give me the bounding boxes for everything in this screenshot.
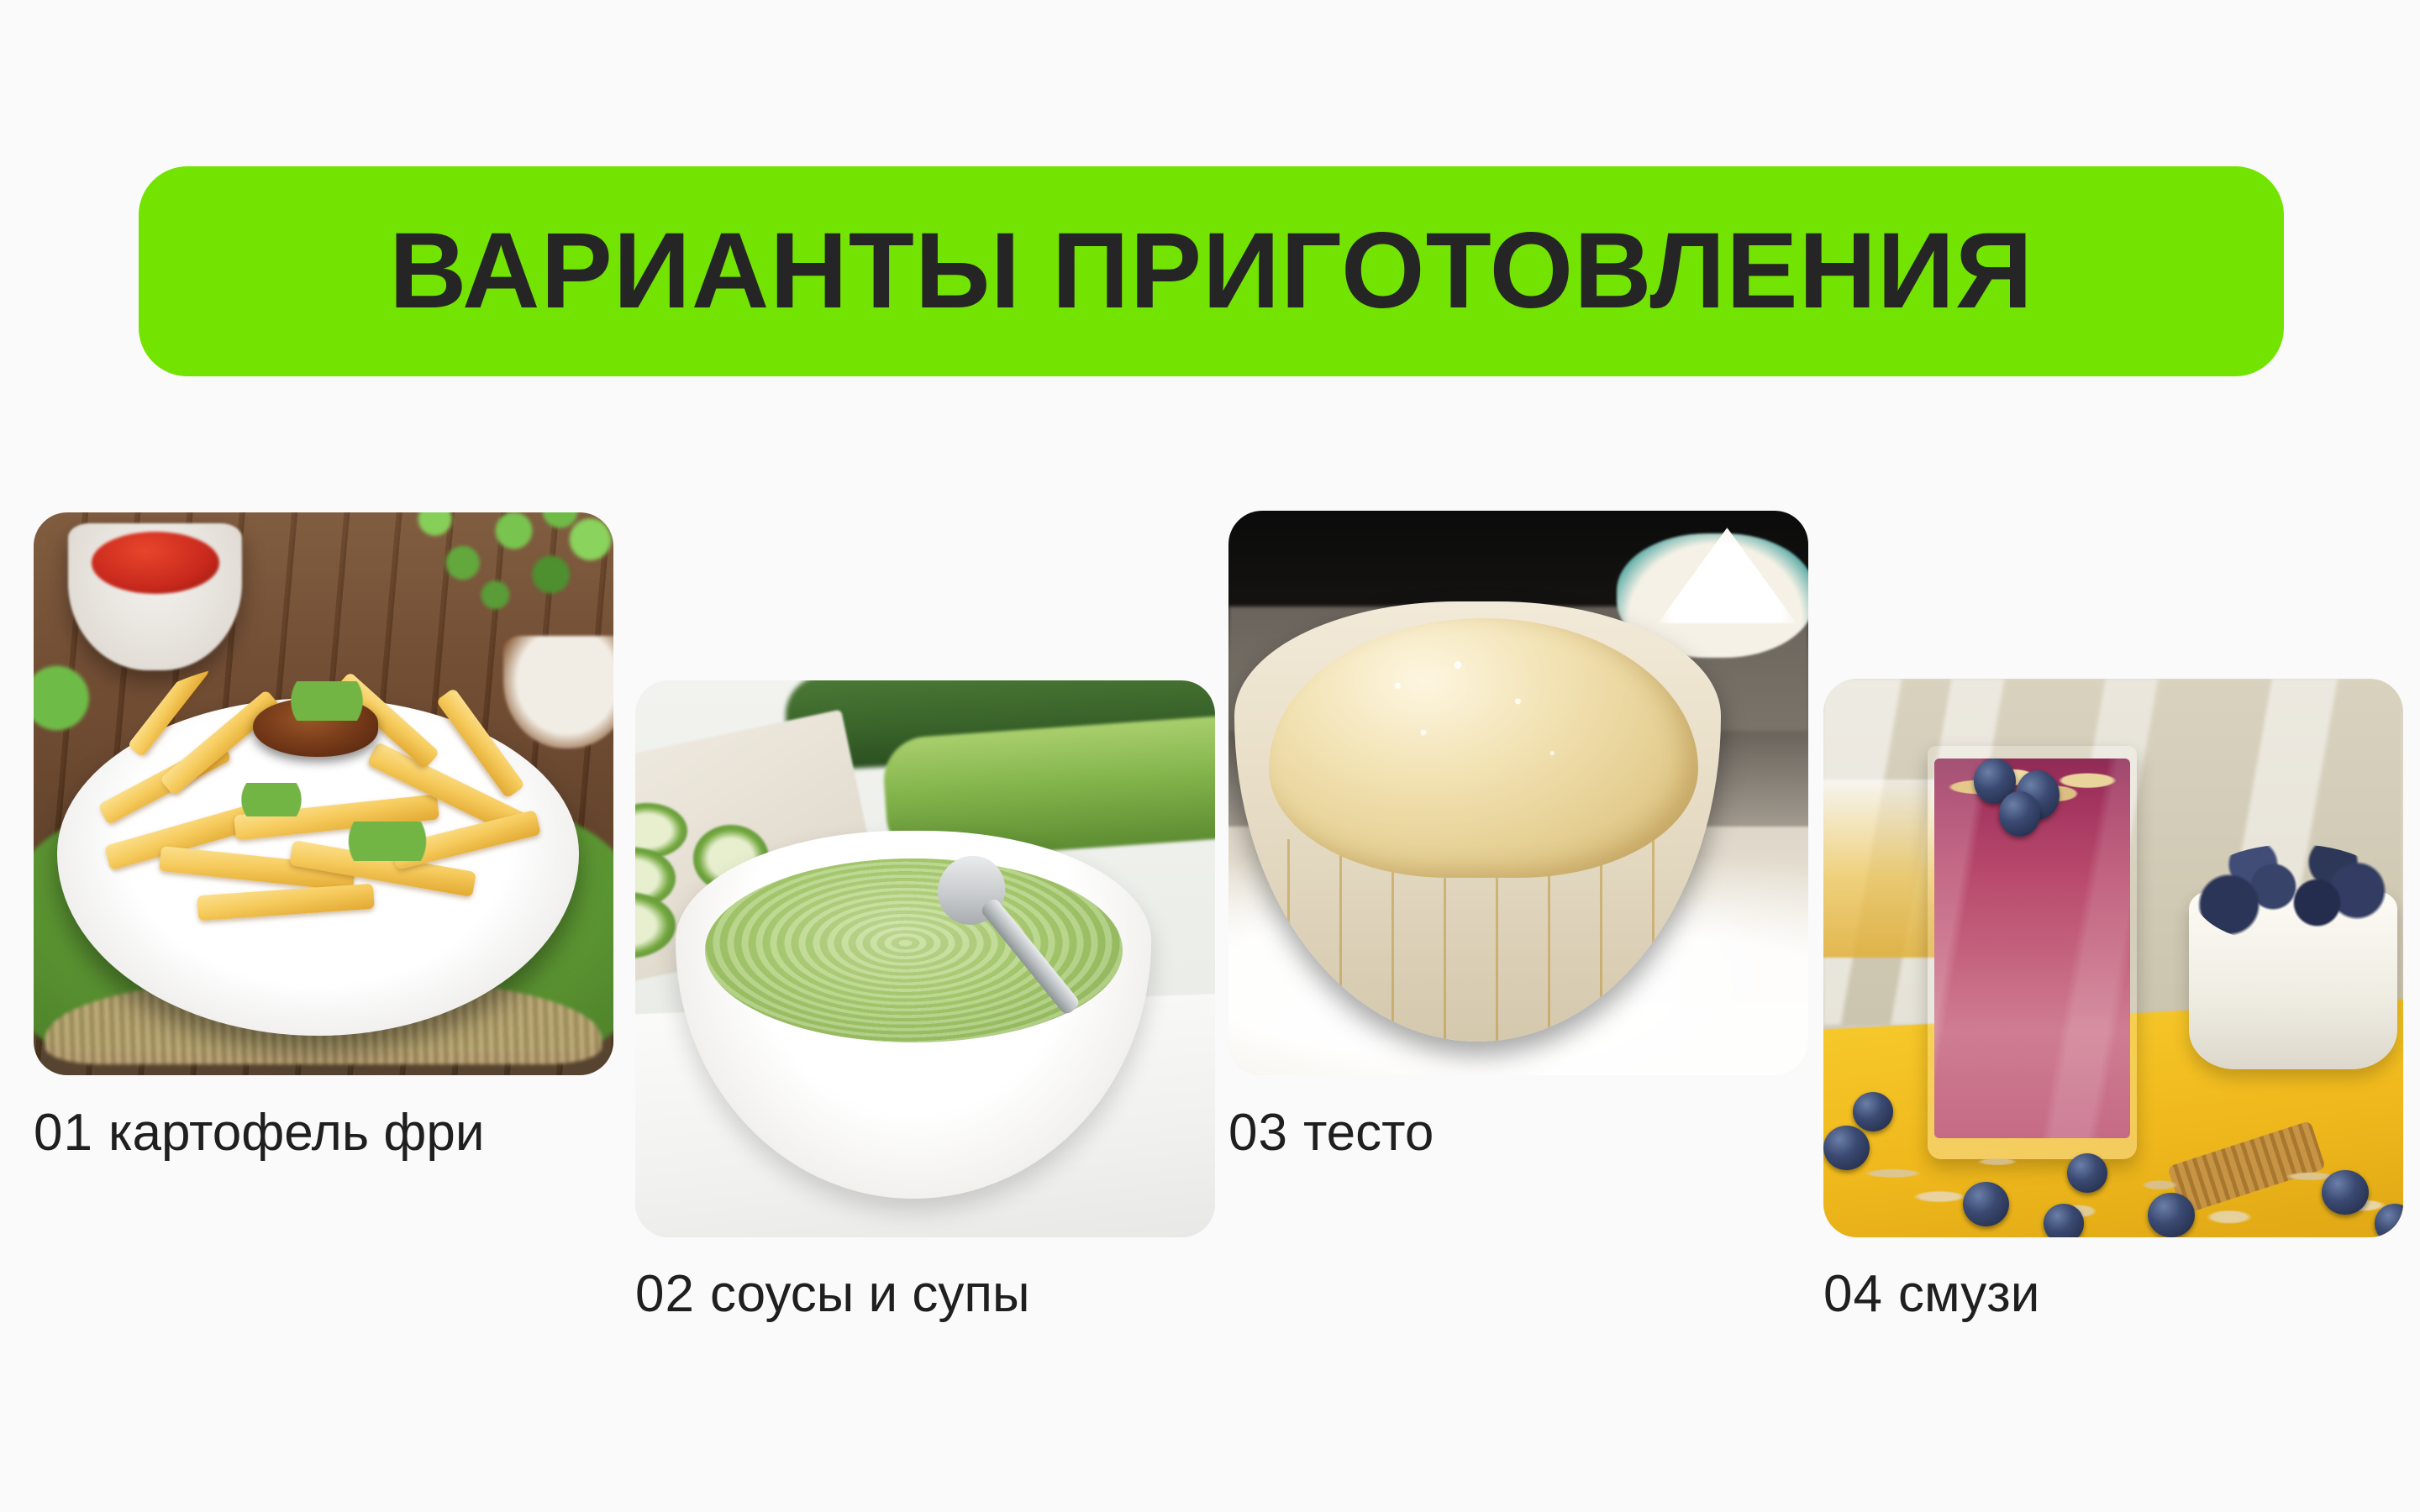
option-card-04[interactable] — [1823, 679, 2403, 1237]
photo-green-soup — [635, 680, 1215, 1237]
parsley-garnish-left — [34, 664, 97, 732]
option-card-03[interactable] — [1228, 511, 1808, 1075]
ketchup-sauce — [92, 532, 219, 594]
card-caption-02: 02соусы и супы — [635, 1268, 1030, 1320]
blueberry-ramekin — [2189, 891, 2397, 1070]
card-caption-04: 04смузи — [1823, 1268, 2039, 1320]
fries-pile — [86, 659, 550, 940]
photo-dough — [1228, 511, 1808, 1075]
card-label-04: смузи — [1898, 1265, 2039, 1323]
photo-french-fries — [34, 512, 613, 1075]
option-card-01[interactable] — [34, 512, 613, 1075]
card-label-01: картофель фри — [108, 1104, 485, 1162]
title-banner: ВАРИАНТЫ ПРИГОТОВЛЕНИЯ — [139, 166, 2284, 376]
parsley-garnish-top-right — [393, 512, 613, 636]
photo-smoothie — [1823, 679, 2403, 1237]
card-number-04: 04 — [1823, 1265, 1883, 1323]
card-caption-01: 01картофель фри — [34, 1107, 485, 1159]
card-label-02: соусы и супы — [710, 1265, 1030, 1323]
card-number-01: 01 — [34, 1104, 93, 1162]
option-card-02[interactable] — [635, 680, 1215, 1237]
scattered-oats — [1823, 1092, 2403, 1237]
page-title: ВАРИАНТЫ ПРИГОТОВЛЕНИЯ — [389, 218, 2033, 325]
card-label-03: тесто — [1303, 1104, 1434, 1162]
card-number-02: 02 — [635, 1265, 695, 1323]
card-number-03: 03 — [1228, 1104, 1288, 1162]
card-caption-03: 03тесто — [1228, 1107, 1434, 1159]
